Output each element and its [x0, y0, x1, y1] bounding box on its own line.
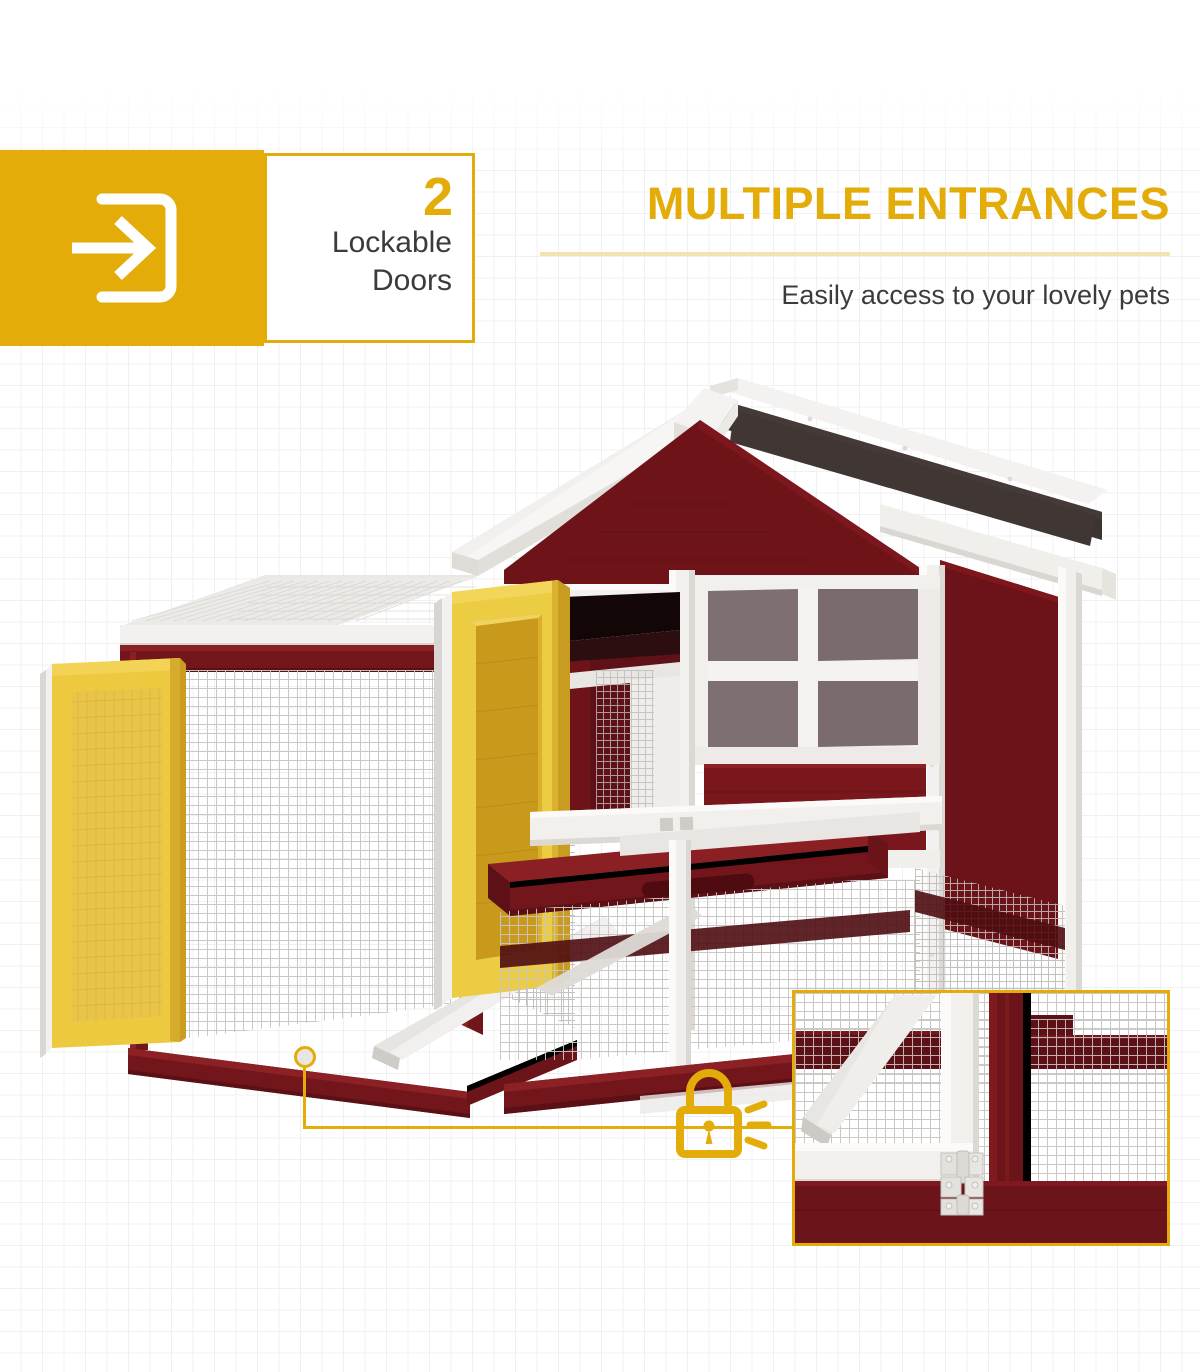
four-pane-window [690, 575, 940, 765]
callout-line-vertical [303, 1068, 306, 1129]
page-title: MULTIPLE ENTRANCES [540, 178, 1170, 230]
feature-badge: 2 Lockable Doors [0, 150, 478, 346]
page-subtitle: Easily access to your lovely pets [540, 278, 1170, 312]
headline-block: MULTIPLE ENTRANCES Easily access to your… [540, 178, 1170, 312]
badge-text-box: 2 Lockable Doors [264, 153, 475, 343]
lower-run-red-band-right [915, 870, 1075, 960]
open-padlock-icon [664, 1060, 774, 1170]
enter-door-arrow-icon [60, 190, 178, 306]
door-left-open-mesh [30, 630, 210, 1070]
hinge-marker-dot [294, 1046, 316, 1068]
badge-line-2: Doors [332, 262, 452, 300]
hinge-detail-inset [792, 990, 1170, 1246]
badge-text-group: 2 Lockable Doors [332, 170, 452, 300]
inset-door-hinges [935, 1149, 995, 1219]
badge-icon-block [0, 150, 264, 346]
badge-number: 2 [332, 170, 452, 224]
headline-divider [540, 252, 1170, 256]
badge-line-1: Lockable [332, 224, 452, 262]
